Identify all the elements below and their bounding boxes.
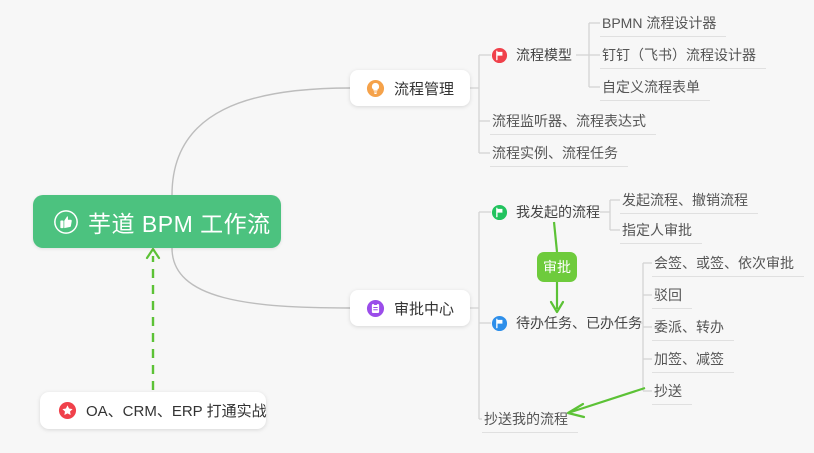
leaf-label-delegate-transfer: 委派、转办	[654, 317, 724, 337]
arrow-cc-to-ccme	[571, 388, 645, 412]
edge-root-to-approval-center	[172, 248, 350, 308]
leaf-label-cc-to-me-process: 抄送我的流程	[484, 409, 568, 429]
sub-node-my-initiated-process[interactable]: 我发起的流程	[491, 199, 600, 225]
leaf-node-bpmn-designer[interactable]: BPMN 流程设计器	[600, 9, 726, 37]
leaf-label-carbon-copy: 抄送	[654, 381, 682, 401]
flag-icon	[491, 315, 508, 332]
sub-node-process-model[interactable]: 流程模型	[491, 42, 572, 68]
leaf-node-dingtalk-feishu-designer[interactable]: 钉钉（飞书）流程设计器	[600, 41, 766, 69]
callout-node-oa-crm-erp[interactable]: OA、CRM、ERP 打通实战	[40, 392, 266, 429]
leaf-label-bpmn-designer: BPMN 流程设计器	[602, 13, 716, 33]
lightbulb-icon	[366, 79, 385, 98]
sub-label-process-model: 流程模型	[516, 45, 572, 65]
leaf-node-reject[interactable]: 驳回	[652, 281, 692, 309]
root-label: 芋道 BPM 工作流	[88, 205, 271, 239]
leaf-label-assignee-approval: 指定人审批	[622, 220, 692, 240]
leaf-label-process-listener-expression: 流程监听器、流程表达式	[492, 111, 646, 131]
flag-icon	[491, 204, 508, 221]
leaf-node-add-remove-sign[interactable]: 加签、减签	[652, 345, 734, 373]
flag-icon	[491, 47, 508, 64]
leaf-node-process-instance-task[interactable]: 流程实例、流程任务	[490, 139, 628, 167]
leaf-label-custom-process-form: 自定义流程表单	[602, 77, 700, 97]
leaf-node-process-listener-expression[interactable]: 流程监听器、流程表达式	[490, 107, 656, 135]
leaf-label-add-remove-sign: 加签、减签	[654, 349, 724, 369]
branch-node-process-management[interactable]: 流程管理	[350, 70, 470, 106]
sub-label-todo-done-tasks: 待办任务、已办任务	[516, 313, 642, 333]
root-node[interactable]: 芋道 BPM 工作流	[33, 195, 281, 248]
leaf-label-countersign-orsign-sequential: 会签、或签、依次审批	[654, 253, 794, 273]
approval-tag-badge: 审批	[537, 252, 577, 282]
leaf-node-custom-process-form[interactable]: 自定义流程表单	[600, 73, 710, 101]
thumbs-up-icon	[53, 209, 79, 235]
branch-label-process-management: 流程管理	[394, 78, 454, 99]
clipboard-icon	[366, 299, 385, 318]
leaf-node-delegate-transfer[interactable]: 委派、转办	[652, 313, 734, 341]
leaf-node-start-cancel-process[interactable]: 发起流程、撤销流程	[620, 186, 758, 214]
arrow-initiated-to-tag	[554, 222, 557, 252]
branch-label-approval-center: 审批中心	[394, 298, 454, 319]
leaf-node-assignee-approval[interactable]: 指定人审批	[620, 216, 702, 244]
dashed-arrow-head	[147, 249, 159, 258]
leaf-label-dingtalk-feishu-designer: 钉钉（飞书）流程设计器	[602, 45, 756, 65]
callout-label-oa-crm-erp: OA、CRM、ERP 打通实战	[86, 400, 267, 421]
sub-node-todo-done-tasks[interactable]: 待办任务、已办任务	[491, 310, 642, 336]
leaf-node-cc-to-me-process[interactable]: 抄送我的流程	[482, 405, 578, 433]
leaf-node-carbon-copy[interactable]: 抄送	[652, 377, 692, 405]
leaf-label-reject: 驳回	[654, 285, 682, 305]
edge-root-to-process-management	[172, 88, 350, 195]
leaf-label-start-cancel-process: 发起流程、撤销流程	[622, 190, 748, 210]
leaf-label-process-instance-task: 流程实例、流程任务	[492, 143, 618, 163]
approval-tag-label: 审批	[543, 257, 571, 277]
leaf-node-countersign-orsign-sequential[interactable]: 会签、或签、依次审批	[652, 249, 804, 277]
branch-node-approval-center[interactable]: 审批中心	[350, 290, 470, 326]
star-icon	[58, 401, 77, 420]
sub-label-my-initiated-process: 我发起的流程	[516, 202, 600, 222]
mindmap-canvas: 芋道 BPM 工作流 流程管理 流程模型 BPMN 流程设计器 钉钉（飞书	[0, 0, 814, 453]
